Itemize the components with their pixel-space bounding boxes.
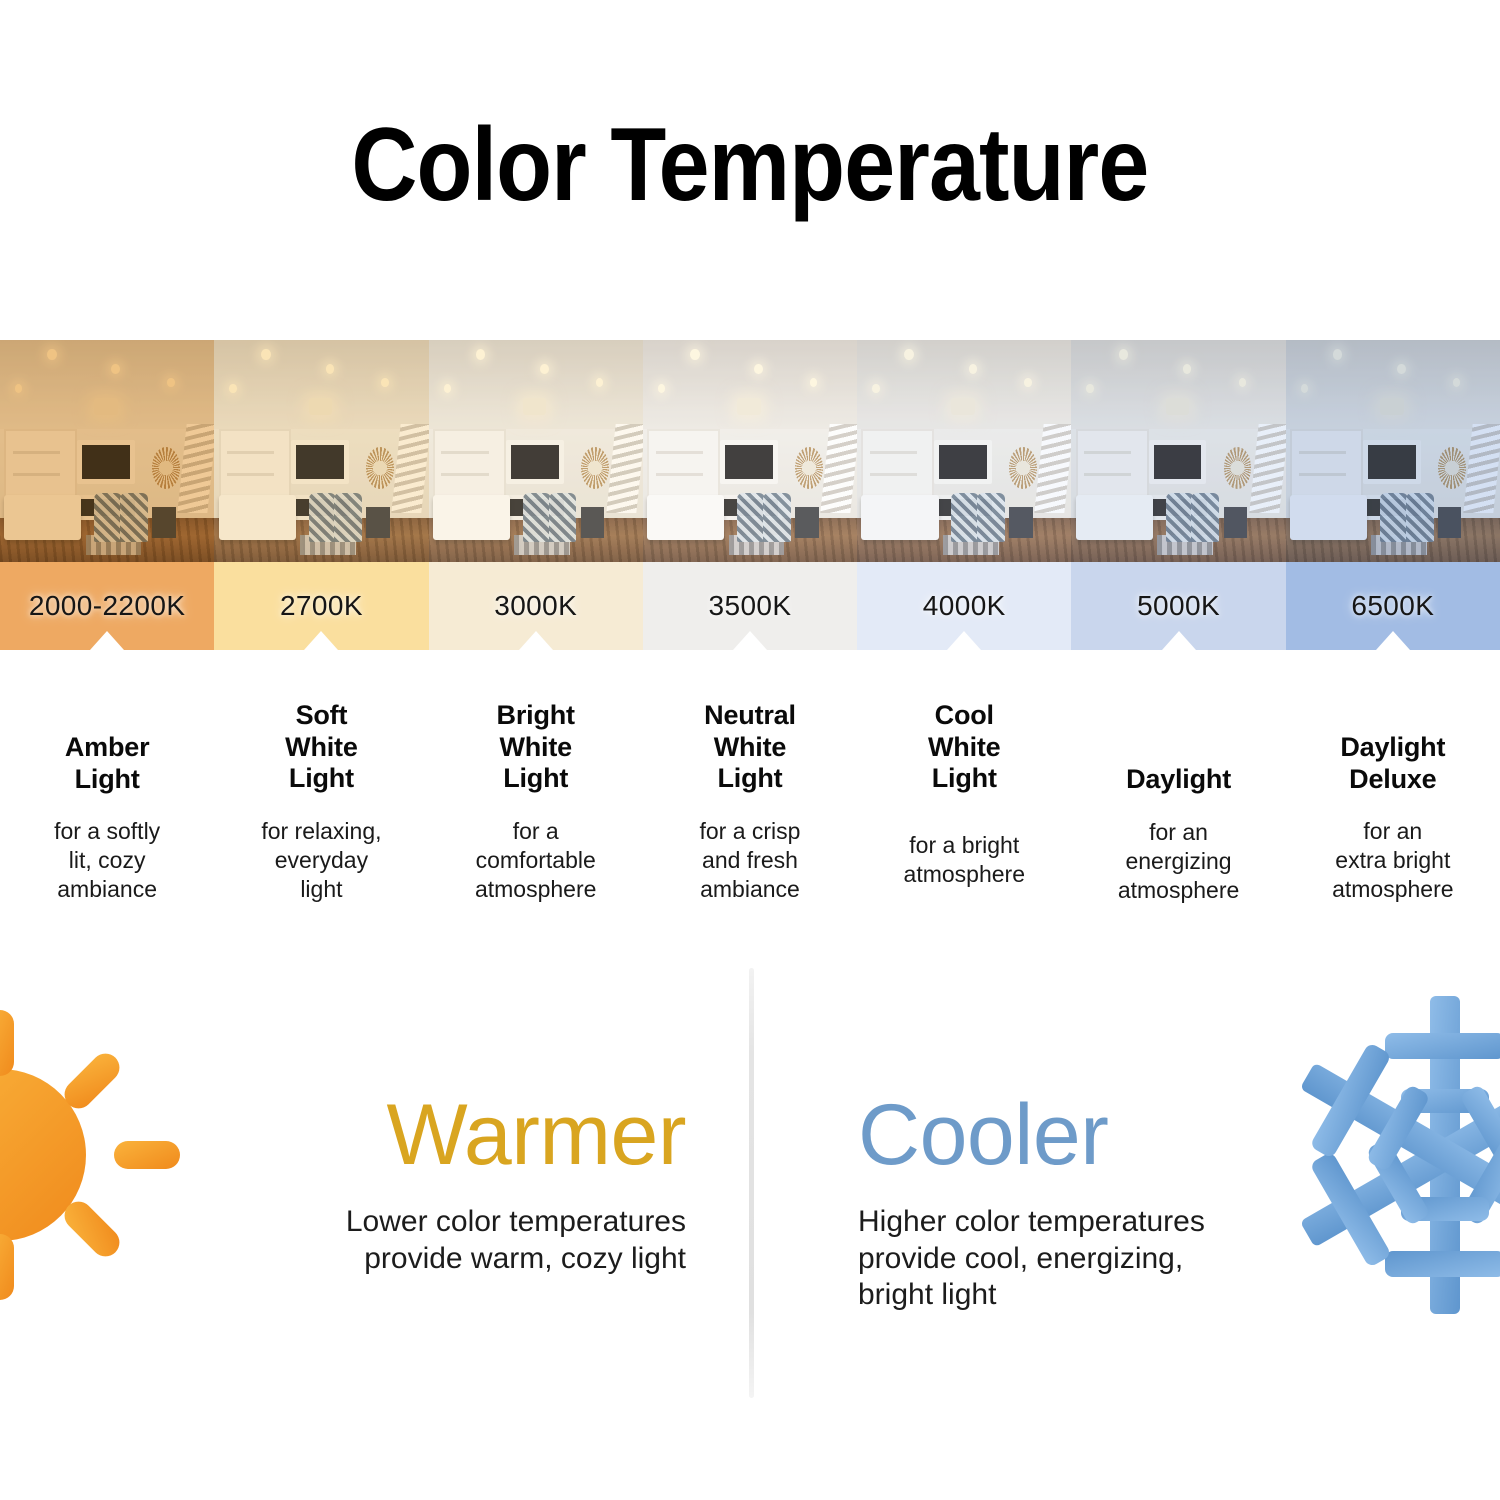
temperature-column: 3500K <box>643 340 857 650</box>
temperature-glow <box>429 340 643 562</box>
light-name: DaylightDeluxe <box>1298 700 1488 795</box>
kelvin-label: 6500K <box>1351 590 1434 622</box>
temperature-glow <box>1286 340 1500 562</box>
temperature-glow <box>857 340 1071 562</box>
kelvin-label: 4000K <box>923 590 1006 622</box>
room-photo <box>0 340 214 562</box>
kelvin-swatch: 3500K <box>643 562 857 650</box>
warmer-heading: Warmer <box>236 1092 686 1178</box>
temperature-column: 6500K <box>1286 340 1500 650</box>
kelvin-swatch: 2000-2200K <box>0 562 214 650</box>
room-photo <box>1071 340 1285 562</box>
light-name: Daylight <box>1083 700 1273 796</box>
temperature-glow <box>214 340 428 562</box>
page-title: Color Temperature <box>351 106 1148 225</box>
kelvin-label: 2000-2200K <box>29 590 186 622</box>
kelvin-swatch: 3000K <box>429 562 643 650</box>
pointer-notch <box>1376 631 1410 650</box>
pointer-notch <box>304 631 338 650</box>
kelvin-label: 2700K <box>280 590 363 622</box>
warmer-block: Warmer Lower color temperaturesprovide w… <box>236 1092 686 1277</box>
temperature-label-column: AmberLight for a softlylit, cozyambiance <box>0 700 214 930</box>
temperature-label-column: BrightWhiteLight for acomfortableatmosph… <box>429 700 643 930</box>
temperature-label-column: SoftWhiteLight for relaxing,everydayligh… <box>214 700 428 930</box>
light-name: CoolWhiteLight <box>869 700 1059 795</box>
light-description: for anenergizingatmosphere <box>1083 818 1273 905</box>
cooler-description: Higher color temperaturesprovide cool, e… <box>858 1204 1328 1314</box>
kelvin-label: 3000K <box>494 590 577 622</box>
temperature-glow <box>643 340 857 562</box>
temperature-label-column: DaylightDeluxe for anextra brightatmosph… <box>1286 700 1500 930</box>
kelvin-swatch: 5000K <box>1071 562 1285 650</box>
temperature-label-column: NeutralWhiteLight for a crispand fresham… <box>643 700 857 930</box>
temperature-glow <box>1071 340 1285 562</box>
pointer-notch <box>1162 631 1196 650</box>
room-photo <box>857 340 1071 562</box>
kelvin-label: 3500K <box>709 590 792 622</box>
temperature-column: 5000K <box>1071 340 1285 650</box>
temperature-column: 2000-2200K <box>0 340 214 650</box>
temperature-column: 2700K <box>214 340 428 650</box>
pointer-notch <box>733 631 767 650</box>
temperature-column: 4000K <box>857 340 1071 650</box>
color-temperature-labels: AmberLight for a softlylit, cozyambiance… <box>0 700 1500 930</box>
light-description: for anextra brightatmosphere <box>1298 817 1488 904</box>
temperature-column: 3000K <box>429 340 643 650</box>
kelvin-swatch: 2700K <box>214 562 428 650</box>
light-description: for a crispand freshambiance <box>655 817 845 904</box>
light-description: for relaxing,everydaylight <box>226 817 416 904</box>
section-divider <box>749 968 754 1398</box>
light-name: SoftWhiteLight <box>226 700 416 795</box>
room-photo <box>1286 340 1500 562</box>
kelvin-label: 5000K <box>1137 590 1220 622</box>
room-photo <box>643 340 857 562</box>
temperature-label-column: Daylight for anenergizingatmosphere <box>1071 700 1285 930</box>
room-photo <box>214 340 428 562</box>
sun-icon <box>0 1000 222 1310</box>
light-description: for a softlylit, cozyambiance <box>12 817 202 904</box>
pointer-notch <box>90 631 124 650</box>
light-description: for a brightatmosphere <box>869 831 1059 889</box>
kelvin-swatch: 4000K <box>857 562 1071 650</box>
light-description: for acomfortableatmosphere <box>441 817 631 904</box>
temperature-glow <box>0 340 214 562</box>
warmer-description: Lower color temperaturesprovide warm, co… <box>236 1204 686 1277</box>
temperature-label-column: CoolWhiteLight for a brightatmosphere <box>857 700 1071 930</box>
light-name: BrightWhiteLight <box>441 700 631 795</box>
cooler-block: Cooler Higher color temperaturesprovide … <box>858 1092 1328 1314</box>
color-temperature-strip: 2000-2200K 2700K <box>0 340 1500 650</box>
cooler-heading: Cooler <box>858 1092 1328 1178</box>
pointer-notch <box>519 631 553 650</box>
pointer-notch <box>947 631 981 650</box>
room-photo <box>429 340 643 562</box>
light-name: AmberLight <box>12 700 202 795</box>
page-header: Color Temperature <box>0 0 1500 330</box>
kelvin-swatch: 6500K <box>1286 562 1500 650</box>
light-name: NeutralWhiteLight <box>655 700 845 795</box>
